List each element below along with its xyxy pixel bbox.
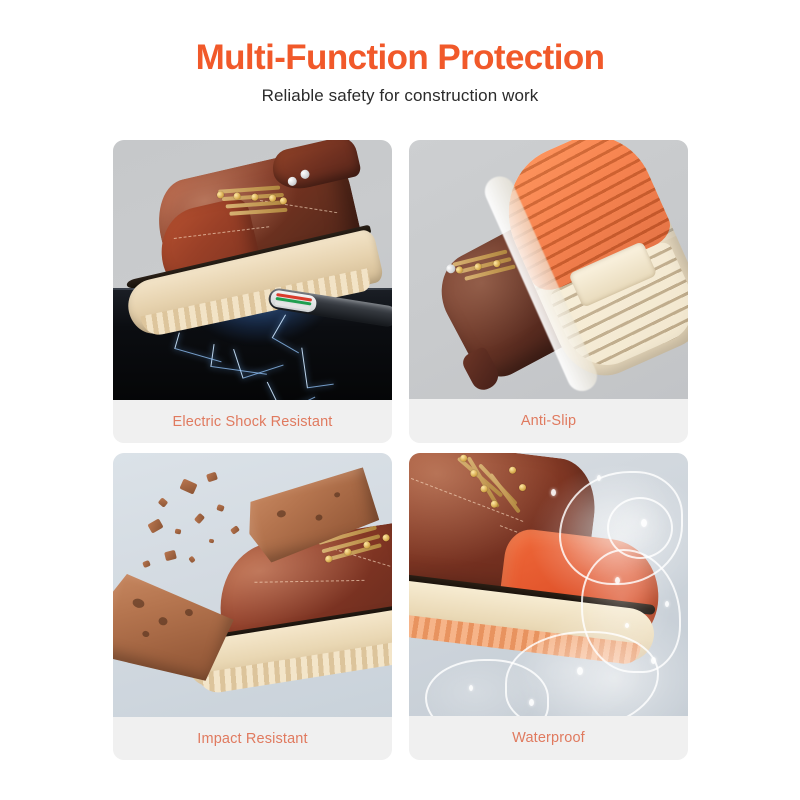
- brick-debris: [179, 478, 197, 494]
- water-droplet: [529, 699, 534, 706]
- water-droplet: [469, 685, 473, 691]
- brick-debris: [147, 518, 163, 533]
- brick-debris: [216, 504, 225, 512]
- water-droplet: [551, 489, 556, 496]
- feature-image-electric-shock-resistant: [113, 140, 392, 400]
- feature-label-waterproof: Waterproof: [409, 716, 688, 760]
- water-droplet: [651, 657, 656, 664]
- boot-illustration: [409, 140, 688, 399]
- brick-debris: [206, 472, 218, 483]
- feature-image-anti-slip: [409, 140, 688, 399]
- water-splash: [607, 497, 673, 559]
- lightning-arc-icon: [301, 344, 333, 388]
- feature-label-electric-shock-resistant: Electric Shock Resistant: [113, 400, 392, 443]
- feature-image-impact-resistant: [113, 453, 392, 717]
- water-droplet: [577, 667, 583, 675]
- feature-label-impact-resistant: Impact Resistant: [113, 717, 392, 760]
- feature-card-waterproof[interactable]: Waterproof: [409, 453, 688, 760]
- feature-image-waterproof: [409, 453, 688, 716]
- brick-debris: [158, 497, 169, 508]
- feature-card-impact-resistant[interactable]: Impact Resistant: [113, 453, 392, 760]
- page-title: Multi-Function Protection: [0, 38, 800, 77]
- water-droplet: [641, 519, 647, 527]
- water-droplet: [615, 577, 620, 584]
- water-droplet: [625, 623, 629, 628]
- brick-debris: [175, 528, 182, 534]
- feature-card-anti-slip[interactable]: Anti-Slip: [409, 140, 688, 443]
- feature-card-electric-shock-resistant[interactable]: Electric Shock Resistant: [113, 140, 392, 443]
- brick-debris: [230, 525, 240, 535]
- water-droplet: [597, 475, 601, 481]
- brick-debris: [194, 513, 205, 524]
- water-droplet: [665, 601, 669, 607]
- feature-card-grid: Electric Shock Resistant: [113, 140, 688, 760]
- header: Multi-Function Protection Reliable safet…: [0, 38, 800, 106]
- page-subtitle: Reliable safety for construction work: [0, 86, 800, 106]
- infographic-page: Multi-Function Protection Reliable safet…: [0, 0, 800, 800]
- brick-debris: [142, 560, 151, 568]
- feature-label-anti-slip: Anti-Slip: [409, 399, 688, 443]
